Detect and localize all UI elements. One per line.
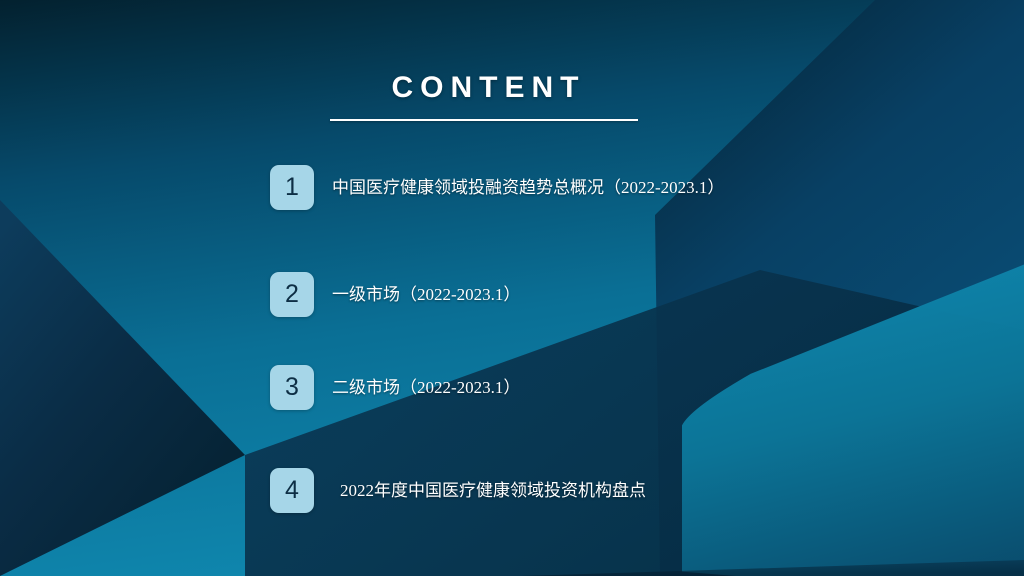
- toc-number-badge-4: 4: [270, 468, 314, 513]
- page-title: CONTENT: [330, 70, 640, 106]
- presentation-slide: CONTENT 1 中国医疗健康领域投融资趋势总概况（2022-2023.1） …: [0, 0, 1024, 576]
- title-block: CONTENT: [330, 70, 640, 106]
- toc-label-2: 一级市场（2022-2023.1）: [332, 283, 520, 307]
- slide-content: CONTENT 1 中国医疗健康领域投融资趋势总概况（2022-2023.1） …: [0, 0, 1024, 576]
- toc-number-badge-1: 1: [270, 165, 314, 210]
- title-underline: [330, 119, 638, 121]
- toc-number-badge-3: 3: [270, 365, 314, 410]
- toc-item-1[interactable]: 1 中国医疗健康领域投融资趋势总概况（2022-2023.1）: [270, 165, 724, 210]
- toc-item-3[interactable]: 3 二级市场（2022-2023.1）: [270, 365, 520, 410]
- toc-label-4: 2022年度中国医疗健康领域投资机构盘点: [340, 479, 646, 503]
- toc-number-badge-2: 2: [270, 272, 314, 317]
- toc-item-4[interactable]: 4 2022年度中国医疗健康领域投资机构盘点: [270, 468, 646, 513]
- toc-item-2[interactable]: 2 一级市场（2022-2023.1）: [270, 272, 520, 317]
- toc-label-3: 二级市场（2022-2023.1）: [332, 376, 520, 400]
- toc-label-1: 中国医疗健康领域投融资趋势总概况（2022-2023.1）: [332, 176, 724, 200]
